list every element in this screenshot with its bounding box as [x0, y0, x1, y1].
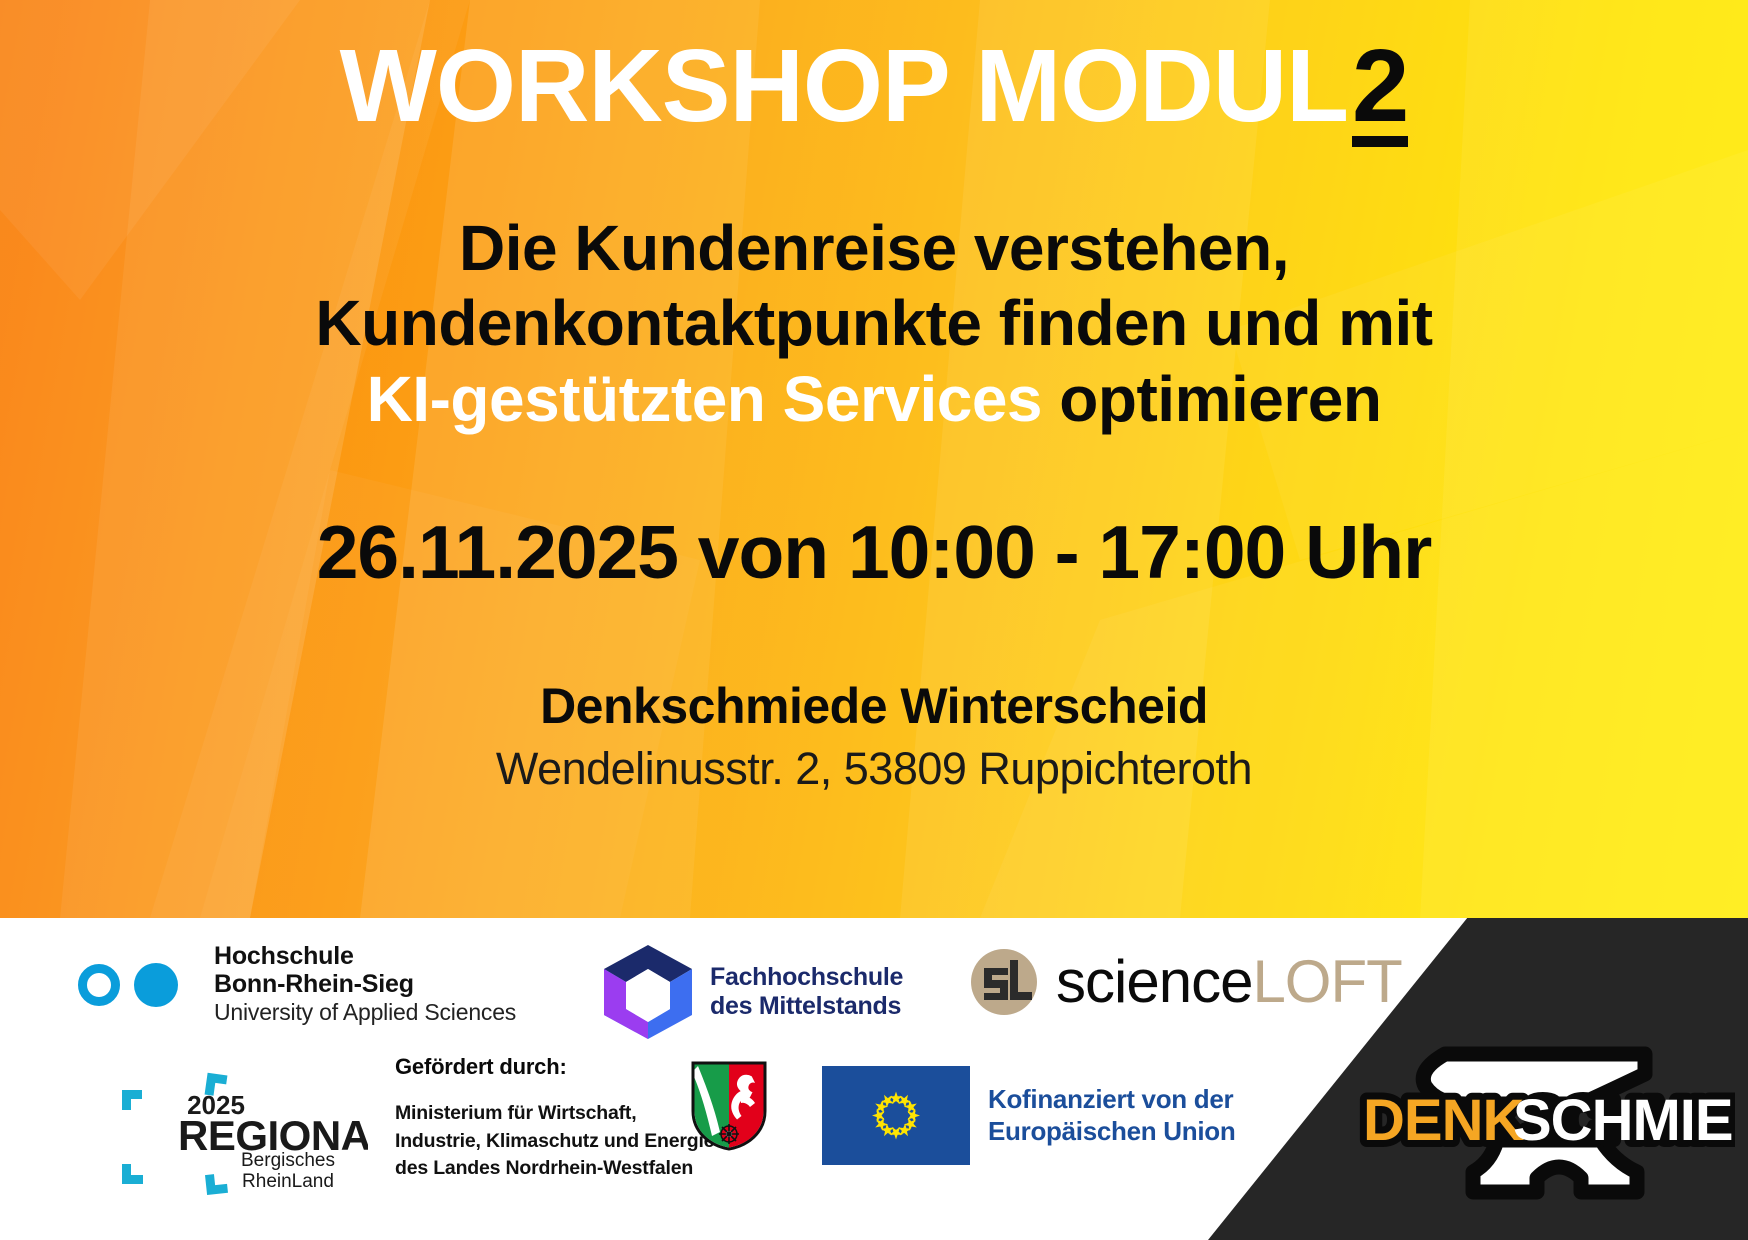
funding-text-block: Gefördert durch: Ministerium für Wirtsch… — [395, 1054, 714, 1183]
logo-european-union: Kofinanziert von der Europäischen Union — [822, 1066, 1235, 1165]
regionale-sub-2: RheinLand — [242, 1171, 334, 1192]
hbrs-text: Hochschule Bonn-Rhein-Sieg University of… — [214, 942, 516, 1028]
funding-line-1: Ministerium für Wirtschaft, — [395, 1100, 714, 1128]
event-address: Wendelinusstr. 2, 53809 Ruppichteroth — [496, 743, 1252, 795]
eu-line-1: Kofinanziert von der — [988, 1084, 1235, 1116]
scienceloft-word-dark: science — [1056, 948, 1252, 1015]
event-venue: Denkschmiede Winterscheid — [540, 677, 1208, 735]
subtitle-block: Die Kundenreise verstehen, Kundenkontakt… — [315, 211, 1432, 438]
subtitle-line-3-rest: optimieren — [1059, 363, 1381, 435]
scienceloft-wordmark: scienceLOFT — [1056, 952, 1402, 1012]
hbrs-line-1: Hochschule — [214, 942, 516, 970]
logo-scienceloft: scienceLOFT — [968, 946, 1402, 1018]
logo-hochschule-bonn-rhein-sieg: Hochschule Bonn-Rhein-Sieg University of… — [78, 942, 516, 1028]
hero-section: WORKSHOP MODUL2 Die Kundenreise verstehe… — [0, 0, 1748, 918]
scienceloft-word-light: LOFT — [1252, 948, 1401, 1015]
logo-denkschmiede: DENKSCHMIEDE DENK D SCHMIEDE — [1345, 1012, 1735, 1227]
logo-fachhochschule-des-mittelstands: Fachhochschule des Mittelstands — [600, 942, 903, 1042]
subtitle-highlight: KI-gestützten Services — [367, 363, 1042, 435]
event-datetime: 26.11.2025 von 10:00 - 17:00 Uhr — [317, 509, 1432, 595]
hbrs-line-2: Bonn-Rhein-Sieg — [214, 970, 516, 998]
regionale-sub-1: Bergisches — [241, 1150, 335, 1171]
funding-body: Ministerium für Wirtschaft, Industrie, K… — [395, 1100, 714, 1183]
scienceloft-sl-monogram-icon — [968, 946, 1040, 1018]
subtitle-line-3: KI-gestützten Services optimieren — [315, 362, 1432, 438]
title-number: 2 — [1352, 39, 1408, 147]
hbrs-dot-icon — [134, 963, 178, 1007]
subtitle-line-1: Die Kundenreise verstehen, — [315, 211, 1432, 287]
funding-line-2: Industrie, Klimaschutz und Energie — [395, 1128, 714, 1156]
denkschmiede-word-white: SCHMIEDE — [1513, 1088, 1735, 1153]
hbrs-ring-icon — [78, 964, 120, 1006]
fhm-cube-icon — [600, 942, 696, 1042]
eu-flag-icon — [822, 1066, 970, 1165]
regionale-graphic: 2025 REGIONALE Bergisches RheinLand — [88, 1068, 368, 1198]
denkschmiede-anvil-icon: DENKSCHMIEDE DENK D SCHMIEDE — [1345, 1012, 1735, 1227]
fhm-line-1: Fachhochschule — [710, 963, 903, 993]
eu-line-2: Europäischen Union — [988, 1116, 1235, 1148]
logo-regionale-2025: 2025 REGIONALE Bergisches RheinLand — [88, 1068, 368, 1198]
funding-heading: Gefördert durch: — [395, 1054, 714, 1080]
poster-root: WORKSHOP MODUL2 Die Kundenreise verstehe… — [0, 0, 1748, 1240]
fhm-text: Fachhochschule des Mittelstands — [710, 963, 903, 1022]
logo-nrw-coat-of-arms — [690, 1060, 768, 1157]
fhm-line-2: des Mittelstands — [710, 992, 903, 1022]
title-prefix: WORKSHOP MODUL — [340, 28, 1348, 143]
nrw-crest-icon — [690, 1060, 768, 1152]
subtitle-line-2: Kundenkontaktpunkte finden und mit — [315, 286, 1432, 362]
eu-text: Kofinanziert von der Europäischen Union — [988, 1084, 1235, 1147]
page-title: WORKSHOP MODUL2 — [340, 34, 1409, 147]
hbrs-line-3: University of Applied Sciences — [214, 998, 516, 1028]
funding-line-3: des Landes Nordrhein-Westfalen — [395, 1155, 714, 1183]
